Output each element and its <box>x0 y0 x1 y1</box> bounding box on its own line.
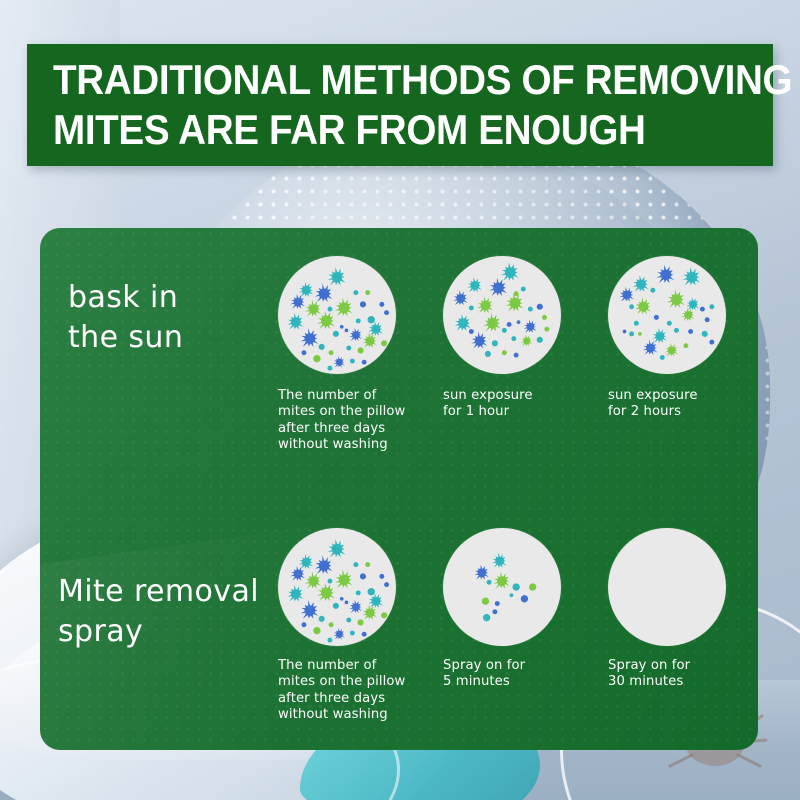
petri-dish-sun-2-hours <box>608 256 726 374</box>
cell-sun-baseline: The number of mites on the pillow after … <box>268 256 438 454</box>
comparison-panel: bask in the sun The number of mites on t… <box>40 228 758 750</box>
cell-spray-30-minutes: Spray on for 30 minutes <box>598 528 758 691</box>
row-label-bask-in-the-sun: bask in the sun <box>68 278 183 358</box>
petri-dish-spray-baseline <box>278 528 396 646</box>
row-bask-in-the-sun: bask in the sun The number of mites on t… <box>40 228 758 500</box>
caption-spray-baseline: The number of mites on the pillow after … <box>268 658 438 724</box>
petri-dish-sun-baseline <box>278 256 396 374</box>
caption-sun-baseline: The number of mites on the pillow after … <box>268 388 438 454</box>
cell-sun-1-hour: sun exposure for 1 hour <box>433 256 603 421</box>
caption-sun-1-hour: sun exposure for 1 hour <box>433 388 603 421</box>
headline-line-2: MITES ARE FAR FROM ENOUGH <box>53 105 715 155</box>
cell-sun-2-hours: sun exposure for 2 hours <box>598 256 758 421</box>
row-mite-removal-spray: Mite removal spray The number of mites o… <box>40 500 758 750</box>
cell-spray-baseline: The number of mites on the pillow after … <box>268 528 438 724</box>
cell-spray-5-minutes: Spray on for 5 minutes <box>433 528 603 691</box>
petri-dish-sun-1-hour <box>443 256 561 374</box>
row-label-mite-removal-spray: Mite removal spray <box>58 572 259 652</box>
caption-spray-30-minutes: Spray on for 30 minutes <box>598 658 758 691</box>
petri-dish-spray-5-minutes <box>443 528 561 646</box>
caption-spray-5-minutes: Spray on for 5 minutes <box>433 658 603 691</box>
headline-line-1: TRADITIONAL METHODS OF REMOVING <box>53 55 715 105</box>
headline-banner: TRADITIONAL METHODS OF REMOVING MITES AR… <box>27 44 773 166</box>
petri-dish-spray-30-minutes <box>608 528 726 646</box>
caption-sun-2-hours: sun exposure for 2 hours <box>598 388 758 421</box>
